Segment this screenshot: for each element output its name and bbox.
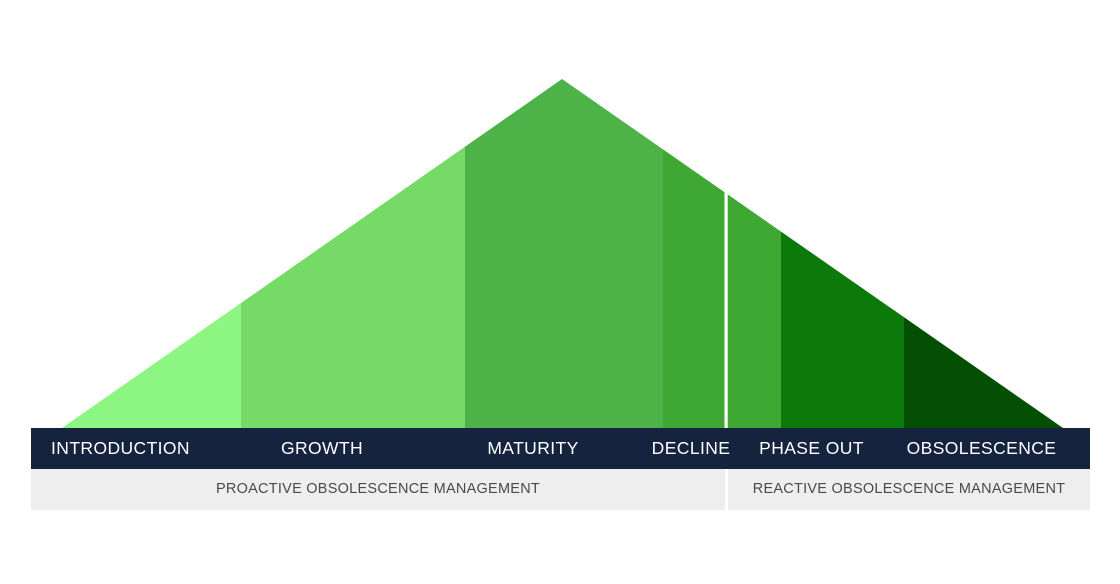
phase-cell-introduction[interactable]: INTRODUCTION [31,428,210,469]
mgmt-cell-reactive[interactable]: REACTIVE OBSOLESCENCE MANAGEMENT [728,469,1090,510]
mgmt-label-proactive: PROACTIVE OBSOLESCENCE MANAGEMENT [216,482,540,497]
phase-label-phase-out: PHASE OUT [759,440,864,458]
phase-label-maturity: MATURITY [487,440,578,458]
phase-cell-obsolescence[interactable]: OBSOLESCENCE [873,428,1090,469]
phase-cell-growth[interactable]: GROWTH [210,428,434,469]
management-strategy-bar: PROACTIVE OBSOLESCENCE MANAGEMENT REACTI… [31,469,1090,510]
phase-label-obsolescence: OBSOLESCENCE [907,440,1057,458]
mgmt-cell-proactive[interactable]: PROACTIVE OBSOLESCENCE MANAGEMENT [31,469,725,510]
phase-cell-decline[interactable]: DECLINE [632,428,750,469]
segment-divider-proactive-reactive [725,60,728,428]
mgmt-label-reactive: REACTIVE OBSOLESCENCE MANAGEMENT [753,482,1066,497]
phase-cell-phase-out[interactable]: PHASE OUT [750,428,873,469]
phase-label-bar: INTRODUCTION GROWTH MATURITY DECLINE PHA… [31,428,1090,469]
product-lifecycle-diagram: INTRODUCTION GROWTH MATURITY DECLINE PHA… [0,0,1120,584]
segment-phase-out [781,60,904,428]
phase-label-decline: DECLINE [652,440,731,458]
segment-introduction [62,60,241,428]
phase-cell-maturity[interactable]: MATURITY [434,428,632,469]
phase-label-introduction: INTRODUCTION [51,440,190,458]
segment-maturity [465,60,663,428]
phase-label-growth: GROWTH [281,440,363,458]
segment-obsolescence [904,60,1063,428]
segment-growth [241,60,465,428]
segment-decline [663,60,781,428]
lifecycle-segments [62,60,1063,428]
